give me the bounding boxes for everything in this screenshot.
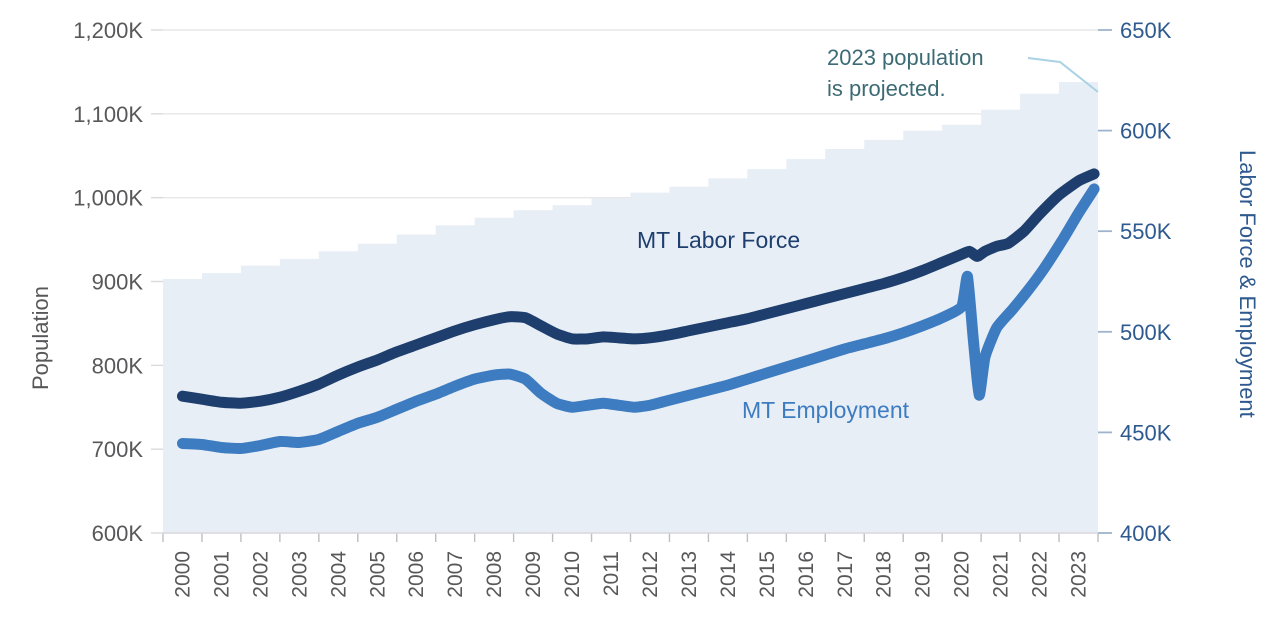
right-axis-tick-labels: 650K600K550K500K450K400K bbox=[1120, 18, 1172, 546]
x-tick-label: 2011 bbox=[600, 551, 623, 596]
x-tick-label: 2006 bbox=[405, 551, 428, 598]
chart-root: 1,200K1,100K1,000K900K800K700K600K 650K6… bbox=[0, 0, 1280, 642]
right-axis-ticks bbox=[1098, 30, 1112, 533]
right-tick-label: 550K bbox=[1120, 219, 1172, 244]
x-tick-label: 2002 bbox=[249, 551, 272, 598]
x-tick-label: 2000 bbox=[171, 551, 194, 598]
x-tick-label: 2005 bbox=[366, 551, 389, 598]
left-tick-label: 700K bbox=[92, 437, 144, 462]
x-tick-label: 2020 bbox=[951, 551, 974, 598]
right-tick-label: 400K bbox=[1120, 521, 1172, 546]
x-tick-label: 2019 bbox=[912, 551, 935, 598]
right-tick-label: 450K bbox=[1120, 420, 1172, 445]
x-axis-ticks bbox=[163, 533, 1098, 542]
right-tick-label: 650K bbox=[1120, 18, 1172, 43]
left-tick-label: 1,200K bbox=[73, 18, 143, 43]
annotation-line-2: is projected. bbox=[827, 76, 946, 101]
x-axis-tick-labels: 2000200120022003200420052006200720082009… bbox=[171, 551, 1090, 598]
x-tick-label: 2004 bbox=[327, 551, 350, 598]
left-tick-label: 600K bbox=[92, 521, 144, 546]
series-label-labor-force: MT Labor Force bbox=[637, 227, 800, 253]
x-tick-label: 2001 bbox=[210, 551, 233, 598]
left-tick-label: 1,100K bbox=[73, 102, 143, 127]
x-tick-label: 2009 bbox=[522, 551, 545, 598]
right-tick-label: 500K bbox=[1120, 320, 1172, 345]
left-tick-label: 800K bbox=[92, 353, 144, 378]
left-tick-label: 1,000K bbox=[73, 186, 143, 211]
left-tick-label: 900K bbox=[92, 270, 144, 295]
x-tick-label: 2023 bbox=[1068, 551, 1091, 598]
x-tick-label: 2012 bbox=[639, 551, 662, 598]
x-tick-label: 2013 bbox=[678, 551, 701, 598]
x-tick-label: 2022 bbox=[1029, 551, 1052, 598]
x-tick-label: 2016 bbox=[795, 551, 818, 598]
x-tick-label: 2014 bbox=[717, 551, 740, 598]
right-axis-title: Labor Force & Employment bbox=[1235, 150, 1260, 418]
x-tick-label: 2017 bbox=[834, 551, 857, 598]
population-labor-force-chart: 1,200K1,100K1,000K900K800K700K600K 650K6… bbox=[0, 0, 1280, 642]
right-tick-label: 600K bbox=[1120, 119, 1172, 144]
left-axis-title: Population bbox=[28, 286, 53, 390]
x-tick-label: 2003 bbox=[288, 551, 311, 598]
x-tick-label: 2018 bbox=[873, 551, 896, 598]
series-label-employment: MT Employment bbox=[742, 397, 910, 423]
left-axis-tick-labels: 1,200K1,100K1,000K900K800K700K600K bbox=[73, 18, 143, 546]
x-tick-label: 2008 bbox=[483, 551, 506, 598]
x-tick-label: 2021 bbox=[990, 551, 1013, 598]
annotation-line-1: 2023 population bbox=[827, 45, 984, 70]
x-tick-label: 2015 bbox=[756, 551, 779, 598]
left-axis-ticks bbox=[151, 30, 163, 533]
x-tick-label: 2010 bbox=[561, 551, 584, 598]
x-tick-label: 2007 bbox=[444, 551, 467, 598]
